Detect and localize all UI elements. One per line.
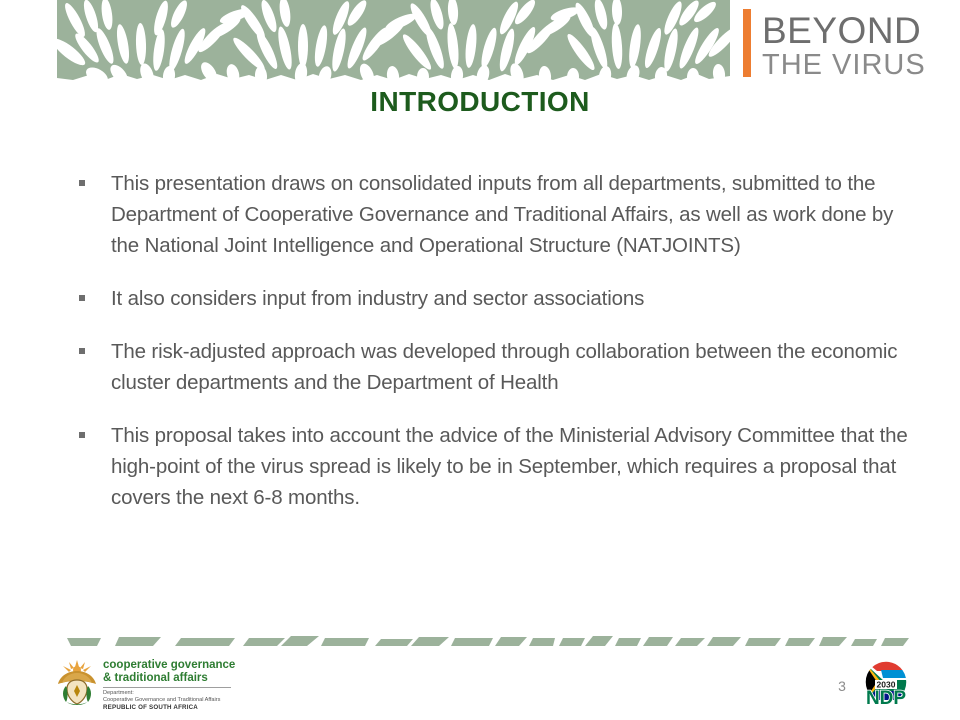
cogta-logo-text: cooperative governance & traditional aff…	[103, 659, 288, 712]
bullet-text: This proposal takes into account the adv…	[111, 424, 908, 509]
cogta-department-logo: cooperative governance & traditional aff…	[55, 658, 285, 708]
brand-divider-bar	[743, 9, 751, 77]
header-leaf-pattern-banner	[57, 0, 730, 82]
ndp-acronym-text: NDP	[866, 688, 906, 706]
slide-canvas: BEYOND THE VIRUS INTRODUCTION This prese…	[0, 0, 960, 720]
bullet-list: This presentation draws on consolidated …	[70, 168, 920, 513]
square-bullet-icon	[79, 180, 85, 186]
cogta-sub-line1: Department:	[103, 690, 288, 697]
beyond-the-virus-logo: BEYOND THE VIRUS	[762, 12, 952, 78]
page-number: 3	[830, 678, 854, 694]
cogta-title-line1: cooperative governance	[103, 659, 288, 672]
bullet-text: It also considers input from industry an…	[111, 287, 644, 310]
ndp-2030-logo: 2030 NDP	[855, 658, 917, 706]
brand-line-beyond: BEYOND	[762, 12, 952, 49]
list-item: This presentation draws on consolidated …	[70, 168, 920, 261]
cogta-sub-line3: REPUBLIC OF SOUTH AFRICA	[103, 704, 288, 712]
cogta-title-line2: & traditional affairs	[103, 672, 288, 685]
brand-line-the-virus: THE VIRUS	[762, 51, 952, 80]
square-bullet-icon	[79, 348, 85, 354]
square-bullet-icon	[79, 432, 85, 438]
cogta-divider-rule	[103, 687, 231, 688]
list-item: It also considers input from industry an…	[70, 283, 920, 314]
footer-leaf-pattern-strip	[57, 620, 937, 650]
cogta-sub-line2: Cooperative Governance and Traditional A…	[103, 697, 288, 704]
square-bullet-icon	[79, 295, 85, 301]
bullet-text: This presentation draws on consolidated …	[111, 172, 893, 257]
list-item: This proposal takes into account the adv…	[70, 420, 920, 513]
page-title: INTRODUCTION	[0, 86, 960, 118]
bullet-text: The risk-adjusted approach was developed…	[111, 340, 897, 394]
list-item: The risk-adjusted approach was developed…	[70, 336, 920, 398]
south-africa-coat-of-arms-icon	[55, 658, 99, 706]
